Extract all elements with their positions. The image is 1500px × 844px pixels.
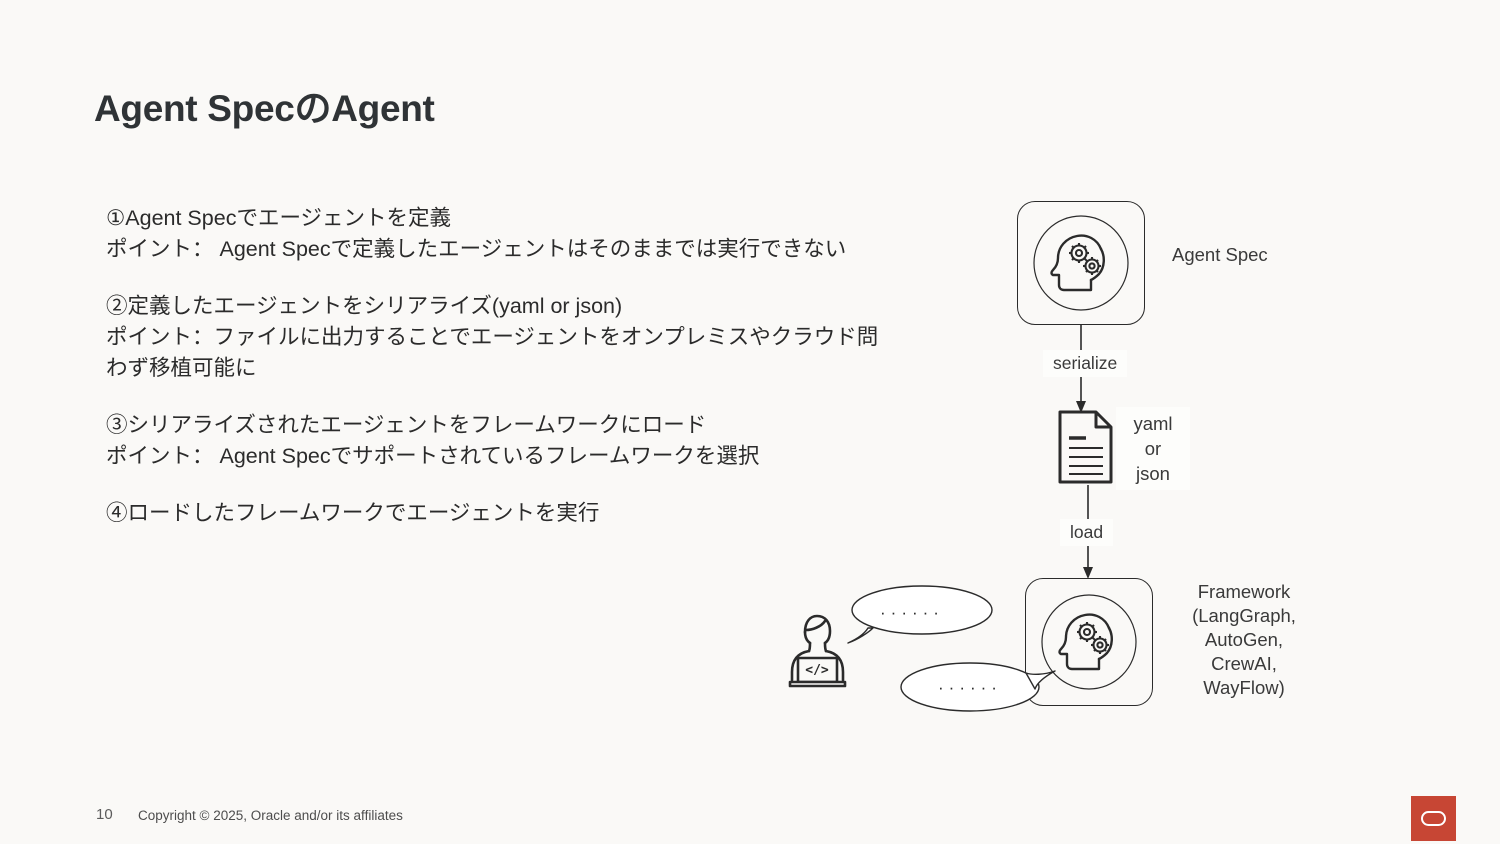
file-label-line-2: or xyxy=(1116,436,1190,461)
node-agent-spec-label: Agent Spec xyxy=(1172,243,1268,267)
head-with-gears-icon xyxy=(1018,202,1144,324)
slide-root: Agent SpecのAgent ①Agent Specでエージェントを定義 ポ… xyxy=(0,0,1500,844)
developer-laptop-icon: </> xyxy=(785,610,847,692)
speech-bubble-top-dots: ······ xyxy=(880,603,944,623)
file-label-line-3: json xyxy=(1116,461,1190,486)
oracle-logo-oval xyxy=(1421,811,1446,826)
framework-label-line-4: CrewAI, xyxy=(1164,652,1324,676)
edge-label-load: load xyxy=(1060,519,1113,546)
footer-copyright: Copyright © 2025, Oracle and/or its affi… xyxy=(138,808,403,823)
framework-label-line-1: Framework xyxy=(1164,580,1324,604)
svg-text:</>: </> xyxy=(805,663,829,678)
flow-diagram: Agent Spec serialize yaml or json load xyxy=(760,185,1340,725)
footer-page-number: 10 xyxy=(96,806,113,823)
document-icon xyxy=(1056,409,1116,485)
node-file-label: yaml or json xyxy=(1116,407,1190,490)
node-framework-label: Framework (LangGraph, AutoGen, CrewAI, W… xyxy=(1164,580,1324,700)
file-label-line-1: yaml xyxy=(1116,411,1190,436)
edge-label-serialize: serialize xyxy=(1043,350,1127,377)
page-title: Agent SpecのAgent xyxy=(94,78,435,132)
framework-label-line-5: WayFlow) xyxy=(1164,676,1324,700)
framework-label-line-3: AutoGen, xyxy=(1164,628,1324,652)
framework-label-line-2: (LangGraph, xyxy=(1164,604,1324,628)
speech-bubble-bottom-dots: ······ xyxy=(938,678,1002,698)
node-agent-spec[interactable] xyxy=(1017,201,1145,325)
oracle-logo xyxy=(1411,796,1456,841)
